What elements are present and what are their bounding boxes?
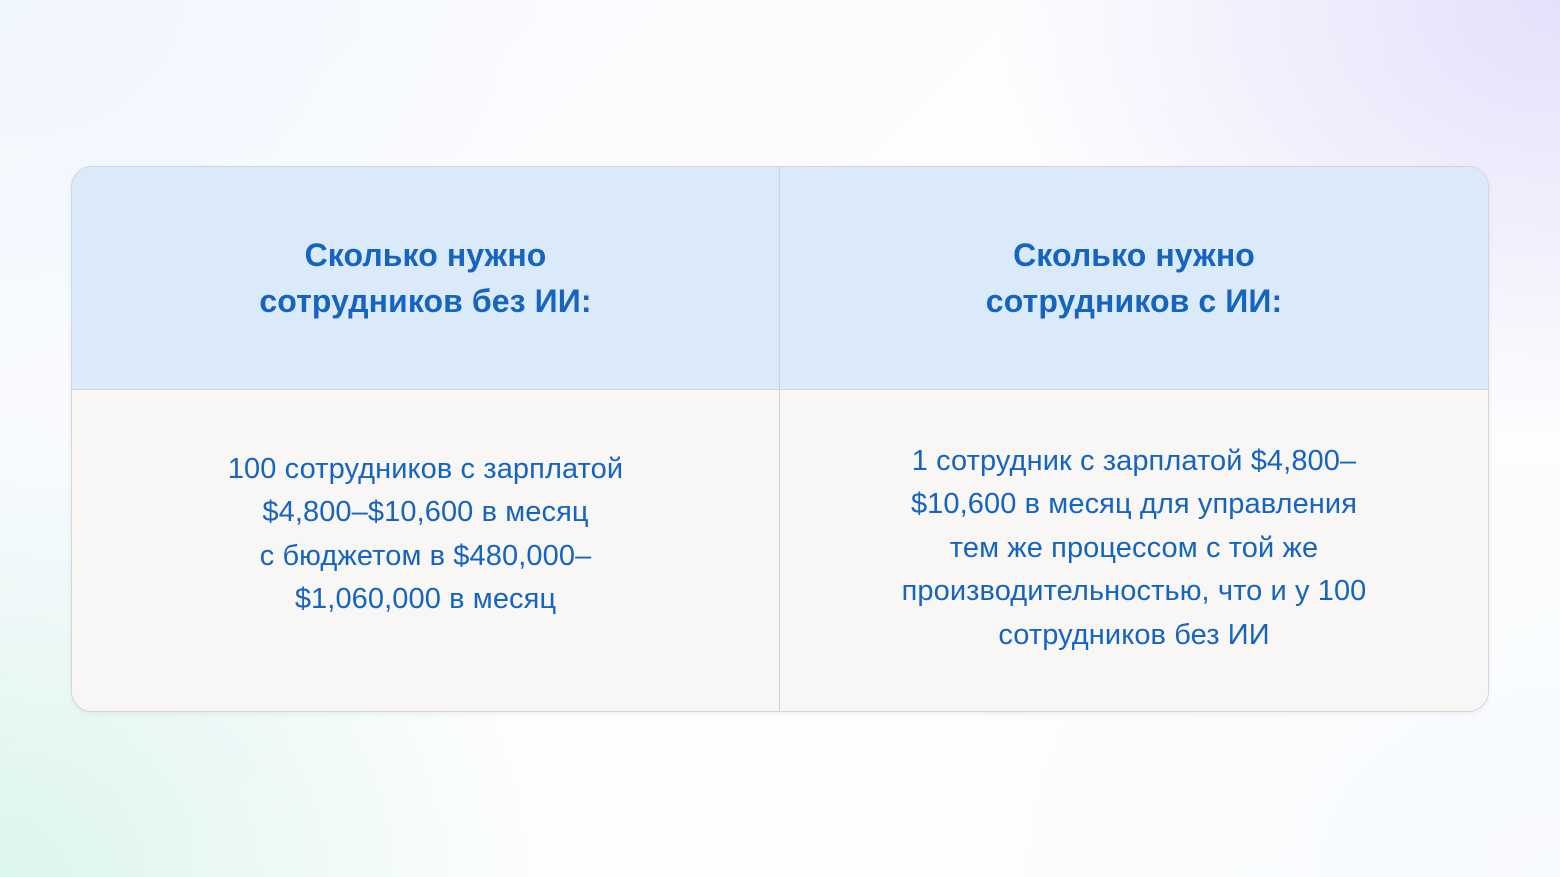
column-header-with-ai-text: Сколько нужно сотрудников с ИИ: xyxy=(986,232,1282,324)
column-header-with-ai: Сколько нужно сотрудников с ИИ: xyxy=(780,167,1488,389)
comparison-card: Сколько нужно сотрудников без ИИ: Скольк… xyxy=(71,166,1489,712)
column-body-without-ai-text: 100 сотрудников с зарплатой $4,800–$10,6… xyxy=(228,448,623,622)
column-body-with-ai-text: 1 сотрудник с зарплатой $4,800– $10,600 … xyxy=(902,440,1367,658)
column-body-with-ai: 1 сотрудник с зарплатой $4,800– $10,600 … xyxy=(780,389,1488,711)
column-header-without-ai: Сколько нужно сотрудников без ИИ: xyxy=(72,167,780,389)
column-header-without-ai-text: Сколько нужно сотрудников без ИИ: xyxy=(259,232,591,324)
comparison-table: Сколько нужно сотрудников без ИИ: Скольк… xyxy=(72,167,1488,711)
column-body-without-ai: 100 сотрудников с зарплатой $4,800–$10,6… xyxy=(72,389,780,711)
